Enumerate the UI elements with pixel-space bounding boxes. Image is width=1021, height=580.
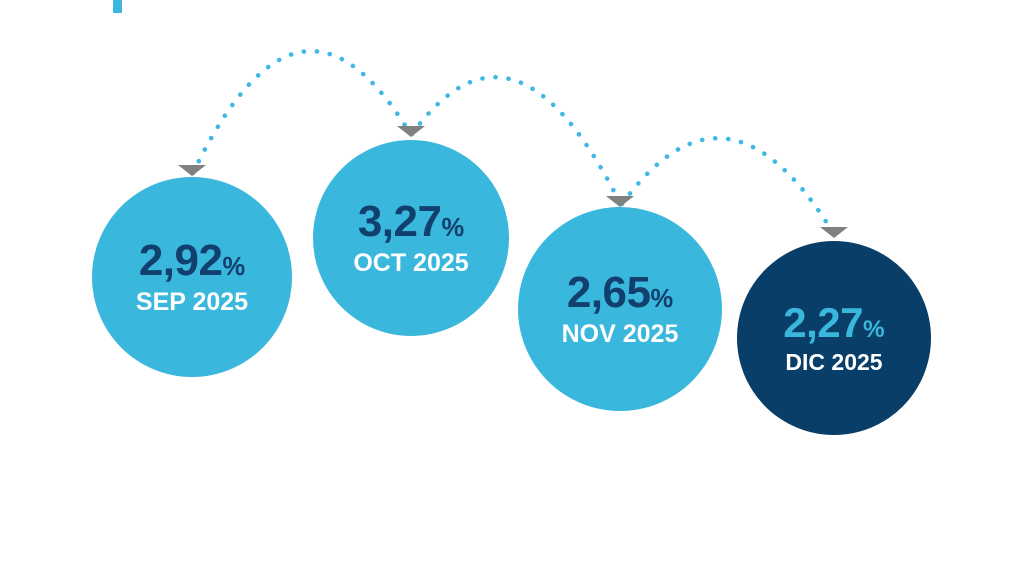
- arrowhead-oct-to-nov: [397, 126, 425, 137]
- bubble-label-sep: SEP 2025: [136, 290, 248, 315]
- bubble-nov[interactable]: 2,65%NOV 2025: [518, 207, 722, 411]
- bubble-value-dic: 2,27%: [783, 302, 884, 344]
- arrowhead-sep-to-oct: [178, 165, 206, 176]
- bubble-percent-sign-nov: %: [650, 285, 673, 313]
- bubble-value-nov: 2,65%: [567, 271, 673, 315]
- arrowhead-nov-to-dic: [606, 196, 634, 207]
- bubble-value-number-nov: 2,65: [567, 268, 651, 317]
- bubble-percent-sign-dic: %: [863, 316, 885, 343]
- bubble-value-number-dic: 2,27: [783, 299, 863, 346]
- bubble-dic[interactable]: 2,27%DIC 2025: [737, 241, 931, 435]
- bubble-label-dic: DIC 2025: [785, 351, 882, 374]
- bubble-percent-sign-oct: %: [441, 214, 464, 242]
- bubble-label-oct: OCT 2025: [353, 251, 468, 276]
- bubble-label-nov: NOV 2025: [562, 322, 679, 347]
- bubble-value-oct: 3,27%: [358, 200, 464, 244]
- bubble-sep[interactable]: 2,92%SEP 2025: [92, 177, 292, 377]
- bubble-value-number-sep: 2,92: [139, 236, 223, 285]
- bubble-value-number-oct: 3,27: [358, 197, 442, 246]
- bubble-percent-sign-sep: %: [222, 253, 245, 281]
- arrowhead-into-dic: [820, 227, 848, 238]
- bubble-oct[interactable]: 3,27%OCT 2025: [313, 140, 509, 336]
- bubble-value-sep: 2,92%: [139, 239, 245, 283]
- infographic-canvas: 2,92%SEP 20253,27%OCT 20252,65%NOV 20252…: [0, 0, 1021, 580]
